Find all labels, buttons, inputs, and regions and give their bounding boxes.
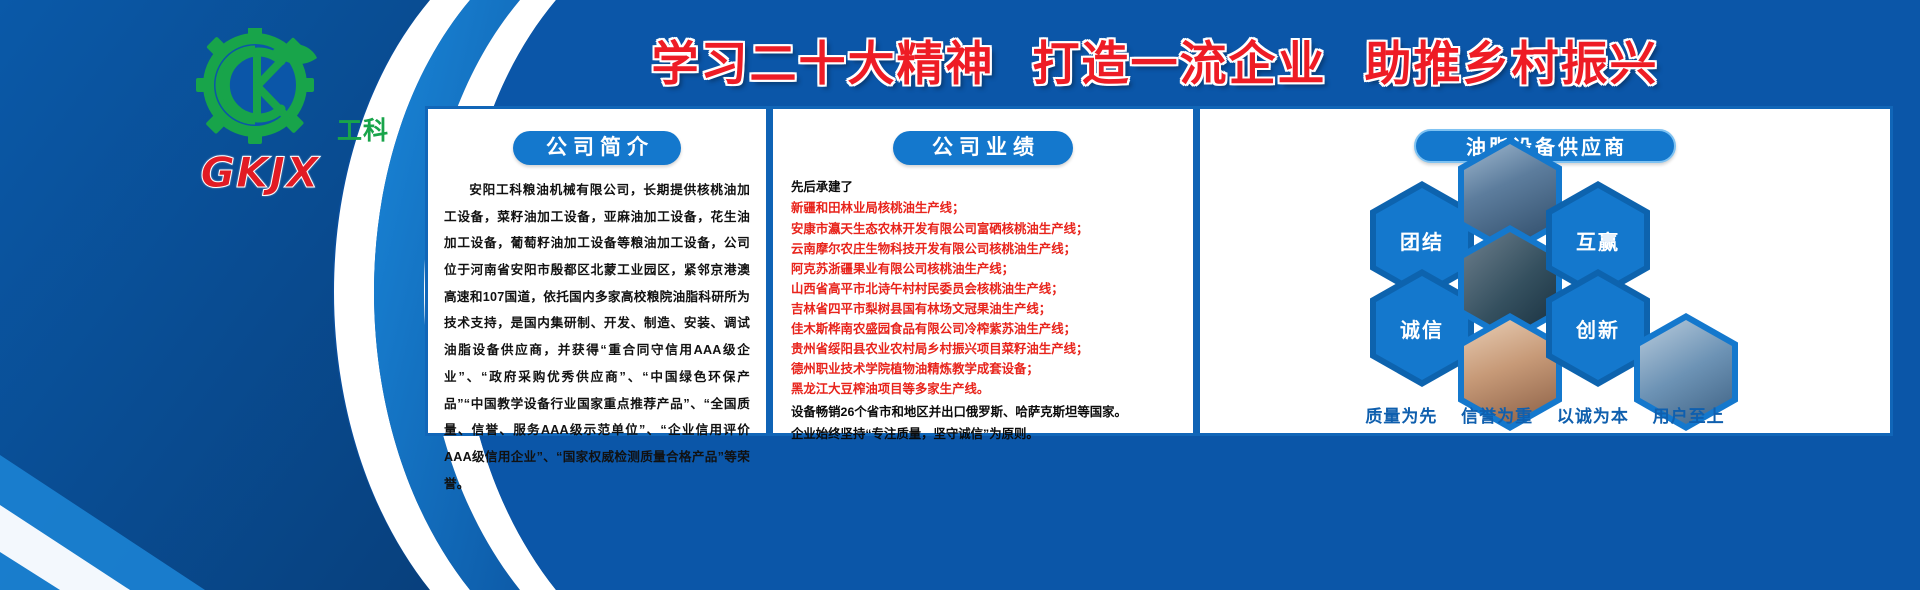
performance-footer-line: 设备畅销26个省市和地区并出口俄罗斯、哈萨克斯坦等国家。 bbox=[791, 402, 1175, 423]
performance-item: 山西省高平市北诗午村村民委员会核桃油生产线； bbox=[791, 279, 1175, 299]
performance-lead-text: 先后承建了 bbox=[791, 177, 1175, 197]
slogan-part-2: 信誉为重 bbox=[1461, 407, 1533, 426]
performance-item: 安康市瀛天生态农林开发有限公司富硒核桃油生产线； bbox=[791, 219, 1175, 239]
headline-part-3: 助推乡村振兴 bbox=[1365, 25, 1659, 94]
performance-item: 德州职业技术学院植物油精炼教学成套设备； bbox=[791, 359, 1175, 379]
slogan-part-1: 质量为先 bbox=[1365, 407, 1437, 426]
performance-item: 阿克苏浙疆果业有限公司核桃油生产线； bbox=[791, 259, 1175, 279]
panel-company-intro: 公司简介 安阳工科粮油机械有限公司，长期提供核桃油加工设备，菜籽油加工设备，亚麻… bbox=[428, 109, 766, 433]
supplier-slogan: 质量为先 信誉为重 以诚为本 用户至上 bbox=[1200, 402, 1890, 427]
hex-label: 创新 bbox=[1576, 314, 1620, 343]
panel-company-performance: 公司业绩 先后承建了 新疆和田林业局核桃油生产线； 安康市瀛天生态农林开发有限公… bbox=[773, 109, 1193, 433]
gear-leaf-logo-icon: 工科 bbox=[185, 28, 335, 150]
headline-banner: 学习二十大精神 打造一流企业 助推乡村振兴 bbox=[430, 22, 1880, 96]
poster-canvas: 工科 GKJX 学习二十大精神 打造一流企业 助推乡村振兴 公司简介 安阳工科粮… bbox=[0, 0, 1920, 590]
panel-oil-equipment-supplier: 油脂设备供应商 团结 诚信 bbox=[1200, 109, 1890, 433]
hex-label: 团结 bbox=[1400, 226, 1444, 255]
content-board: 公司简介 安阳工科粮油机械有限公司，长期提供核桃油加工设备，菜籽油加工设备，亚麻… bbox=[425, 106, 1893, 436]
hex-label: 诚信 bbox=[1400, 314, 1444, 343]
performance-item: 佳木斯桦南农盛园食品有限公司冷榨紫苏油生产线； bbox=[791, 319, 1175, 339]
performance-item: 贵州省绥阳县农业农村局乡村振兴项目菜籽油生产线； bbox=[791, 339, 1175, 359]
performance-footer-line: 企业始终坚持“专注质量，坚守诚信”为原则。 bbox=[791, 424, 1175, 445]
panel-divider-2 bbox=[1193, 109, 1200, 433]
performance-item: 吉林省四平市梨树县国有林场文冠果油生产线； bbox=[791, 299, 1175, 319]
company-logo: 工科 GKJX bbox=[125, 28, 395, 213]
logo-chinese-text: 工科 bbox=[337, 119, 389, 144]
headline-part-2: 打造一流企业 bbox=[1033, 25, 1327, 94]
performance-footer: 设备畅销26个省市和地区并出口俄罗斯、哈萨克斯坦等国家。 企业始终坚持“专注质量… bbox=[791, 402, 1175, 445]
panel-title-company-performance: 公司业绩 bbox=[893, 131, 1073, 165]
panel-divider-1 bbox=[766, 109, 773, 433]
logo-wordmark: GKJX bbox=[200, 152, 319, 194]
headline-part-1: 学习二十大精神 bbox=[652, 25, 995, 94]
panel-title-company-intro: 公司简介 bbox=[513, 131, 681, 165]
company-intro-body: 安阳工科粮油机械有限公司，长期提供核桃油加工设备，菜籽油加工设备，亚麻油加工设备… bbox=[444, 177, 750, 497]
hex-label: 互赢 bbox=[1576, 226, 1620, 255]
performance-item: 黑龙江大豆榨油项目等多家生产线。 bbox=[791, 379, 1175, 399]
hexagon-cluster: 团结 诚信 互赢 bbox=[1210, 173, 1880, 381]
performance-item: 新疆和田林业局核桃油生产线； bbox=[791, 198, 1175, 218]
slogan-part-3: 以诚为本 bbox=[1557, 407, 1629, 426]
performance-item: 云南摩尔农庄生物科技开发有限公司核桃油生产线； bbox=[791, 239, 1175, 259]
slogan-part-4: 用户至上 bbox=[1653, 407, 1725, 426]
